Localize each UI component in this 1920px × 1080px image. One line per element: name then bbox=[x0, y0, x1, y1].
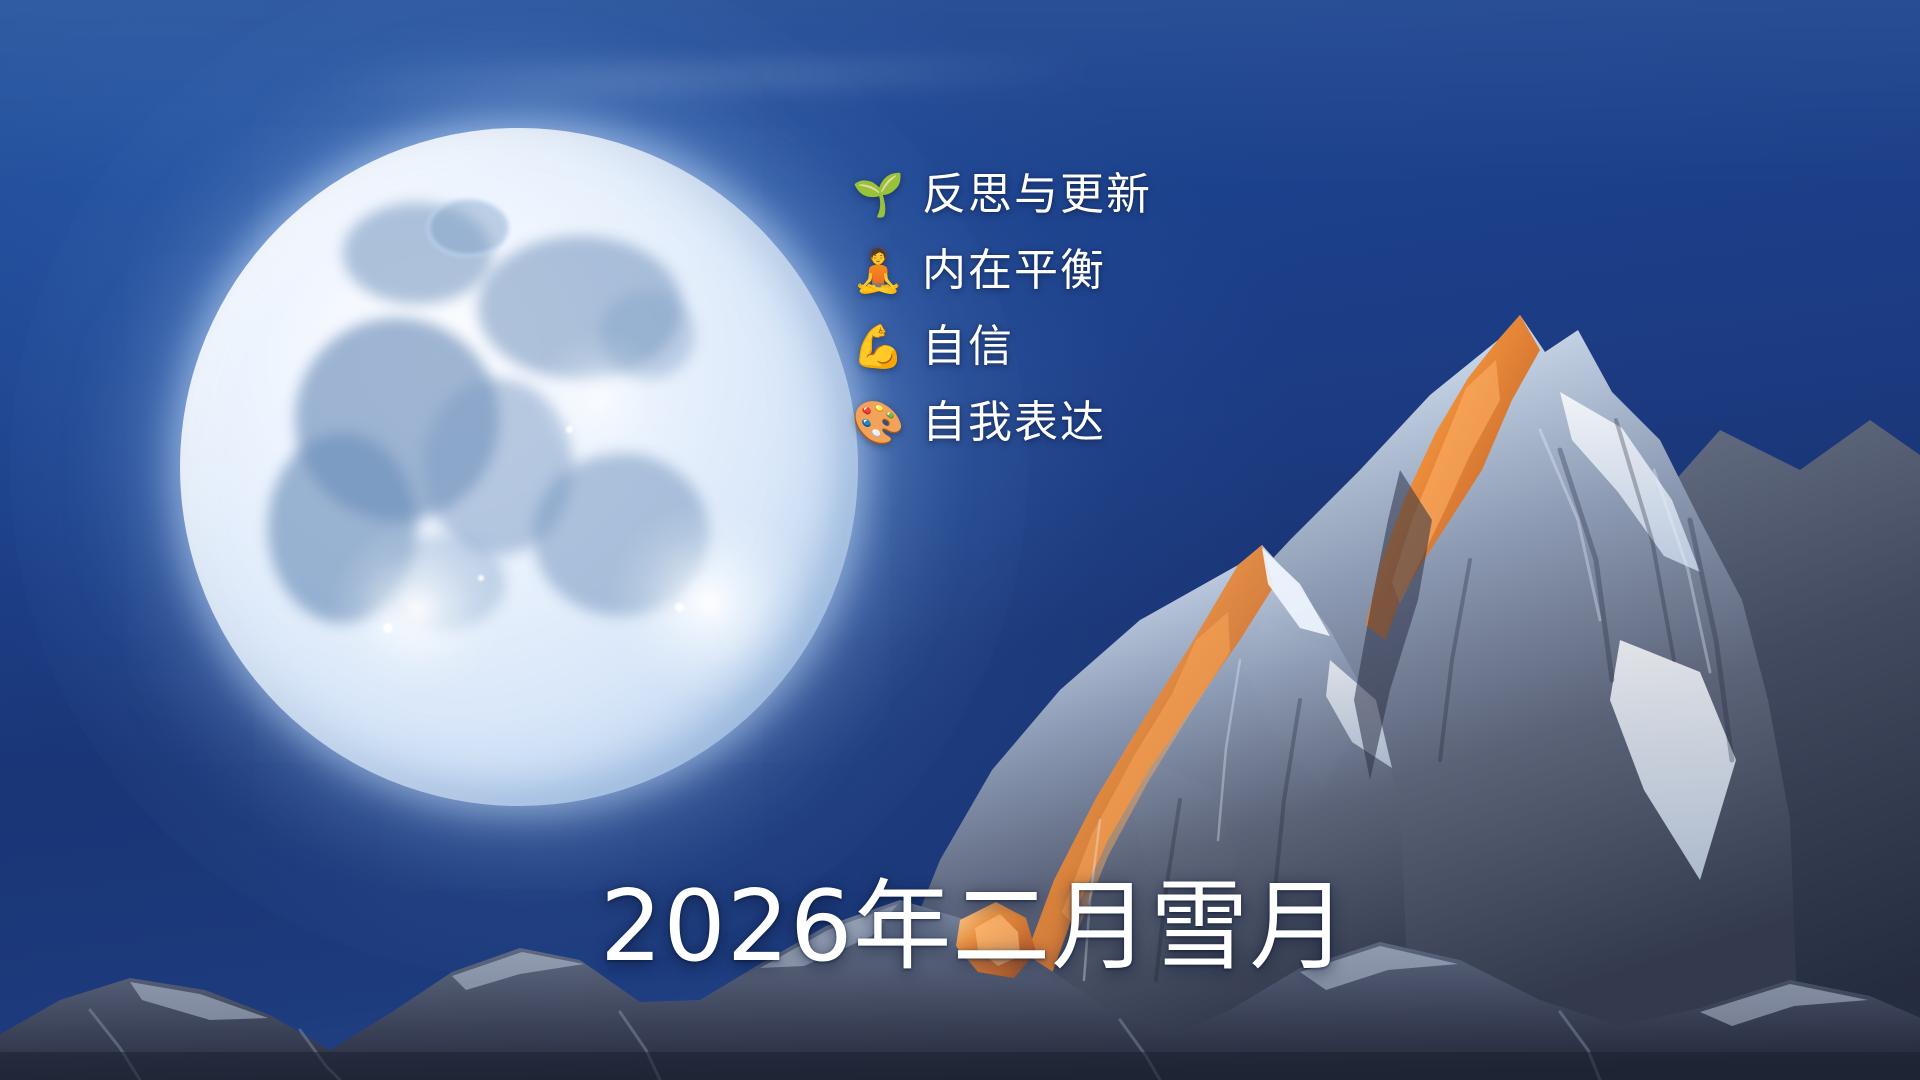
seedling-icon: 🌱 bbox=[852, 174, 900, 216]
crater-speck bbox=[675, 603, 684, 612]
crater-ray-system bbox=[329, 521, 505, 697]
theme-label: 内在平衡 bbox=[922, 249, 1106, 293]
theme-label: 反思与更新 bbox=[922, 173, 1152, 217]
full-moon bbox=[180, 128, 858, 806]
theme-label: 自我表达 bbox=[922, 401, 1106, 445]
list-item: 💪 自信 bbox=[852, 318, 1152, 376]
theme-label: 自信 bbox=[922, 325, 1014, 369]
crater-ray-system bbox=[607, 501, 810, 704]
person-in-lotus-position-icon: 🧘 bbox=[852, 250, 900, 292]
theme-list: 🌱 反思与更新 🧘 内在平衡 💪 自信 🎨 自我表达 bbox=[852, 166, 1152, 452]
list-item: 🎨 自我表达 bbox=[852, 394, 1152, 452]
list-item: 🧘 内在平衡 bbox=[852, 242, 1152, 300]
lunar-crater bbox=[427, 199, 508, 257]
flexed-biceps-icon: 💪 bbox=[852, 326, 900, 368]
artist-palette-icon: 🎨 bbox=[852, 402, 900, 444]
list-item: 🌱 反思与更新 bbox=[852, 166, 1152, 224]
moon-poster: 🌱 反思与更新 🧘 内在平衡 💪 自信 🎨 自我表达 2026年二月雪月 bbox=[0, 0, 1920, 1080]
page-title: 2026年二月雪月 bbox=[600, 878, 1348, 976]
moon-container bbox=[180, 128, 858, 806]
crater-ray-system bbox=[533, 331, 669, 467]
